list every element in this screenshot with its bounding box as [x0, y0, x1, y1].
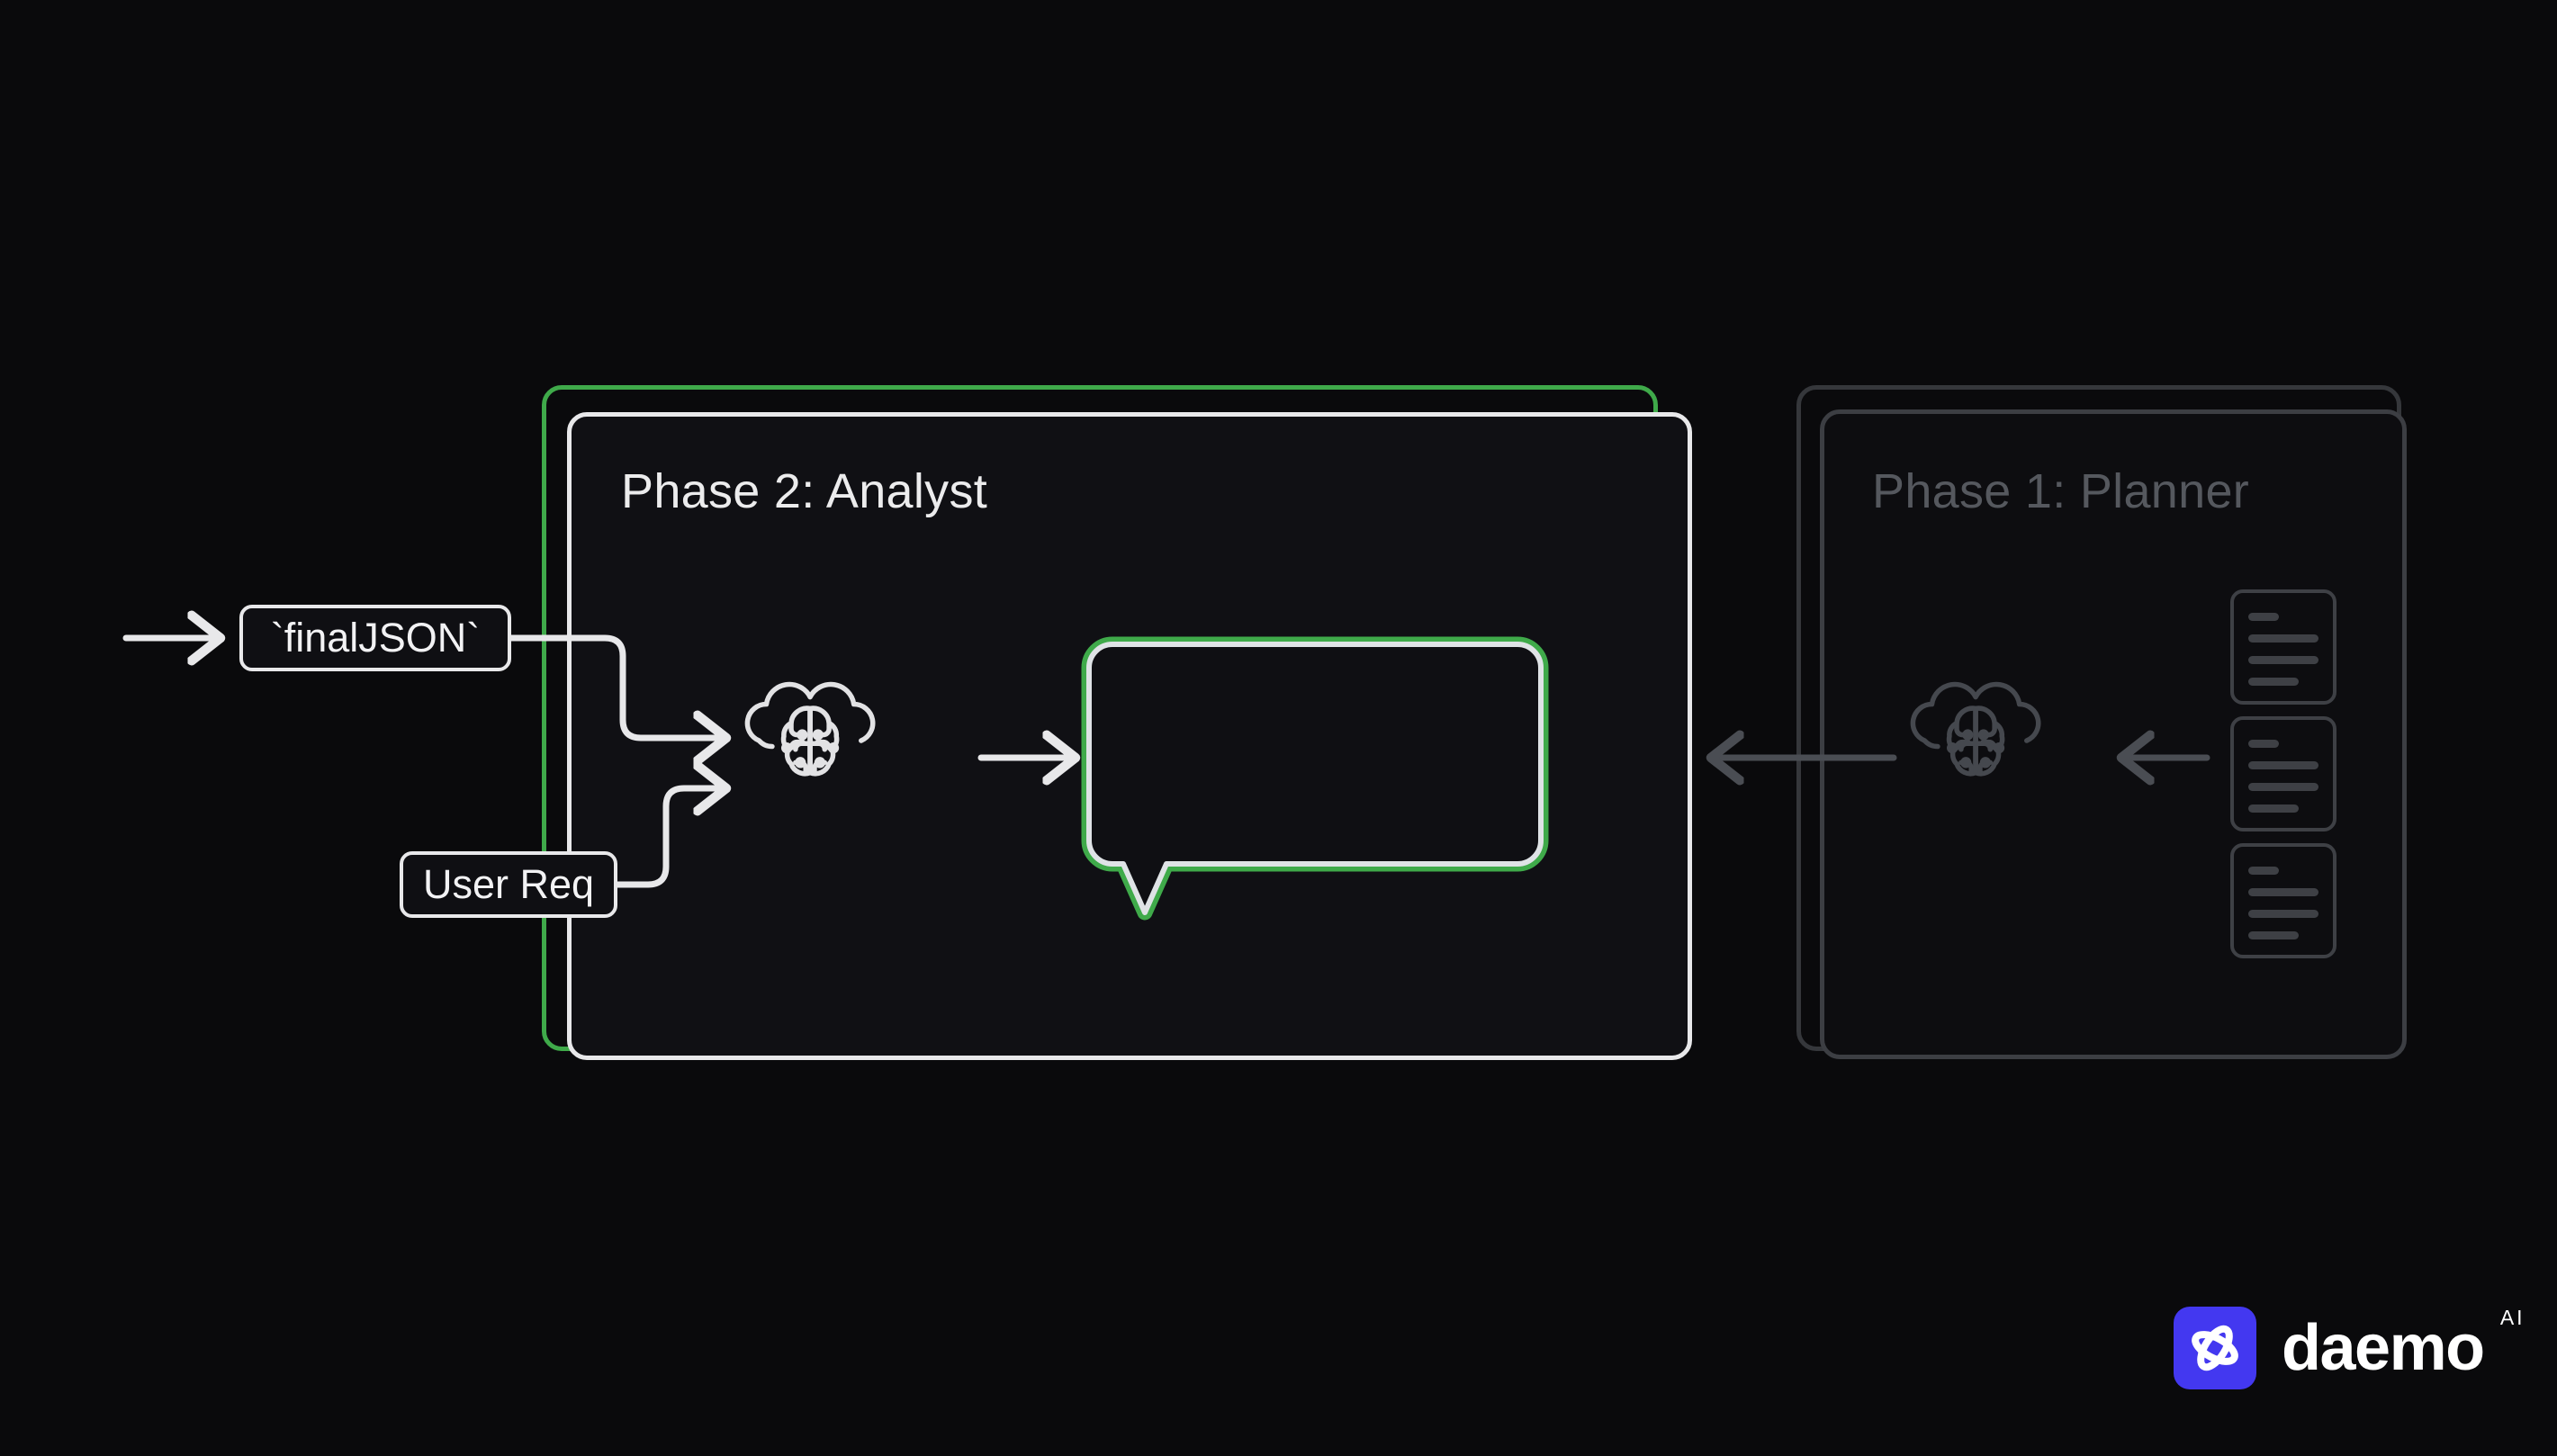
daemo-logo-icon: [2174, 1307, 2256, 1389]
phase-2-title: Phase 2: Analyst: [621, 463, 987, 519]
doc-line: [2248, 740, 2279, 748]
node-final-json[interactable]: `finalJSON`: [239, 605, 511, 671]
brand-superscript: AI: [2500, 1306, 2525, 1330]
doc-line: [2248, 888, 2318, 896]
doc-line: [2248, 783, 2318, 791]
node-user-req[interactable]: User Req: [400, 851, 617, 918]
speech-bubble-text: The total revenue for your active projec…: [1170, 679, 1584, 824]
node-final-json-label: `finalJSON`: [271, 615, 481, 661]
doc-card-1: [2230, 589, 2336, 705]
doc-line: [2248, 656, 2318, 664]
doc-line: [2248, 761, 2318, 769]
doc-line: [2248, 931, 2299, 939]
doc-line: [2248, 910, 2318, 918]
diagram-canvas: Phase 2: Analyst Phase 1: Planner `final…: [0, 0, 2557, 1456]
doc-line: [2248, 613, 2279, 621]
doc-card-2: [2230, 716, 2336, 831]
doc-line: [2248, 804, 2299, 813]
doc-line: [2248, 867, 2279, 875]
phase-1-title: Phase 1: Planner: [1872, 463, 2249, 519]
brand-wordmark: daemo AI: [2282, 1311, 2484, 1385]
doc-card-3: [2230, 843, 2336, 958]
node-user-req-label: User Req: [423, 861, 594, 908]
brand-name: daemo: [2282, 1312, 2484, 1384]
brand-logo[interactable]: daemo AI: [2174, 1307, 2484, 1389]
doc-line: [2248, 678, 2299, 686]
doc-line: [2248, 634, 2318, 643]
